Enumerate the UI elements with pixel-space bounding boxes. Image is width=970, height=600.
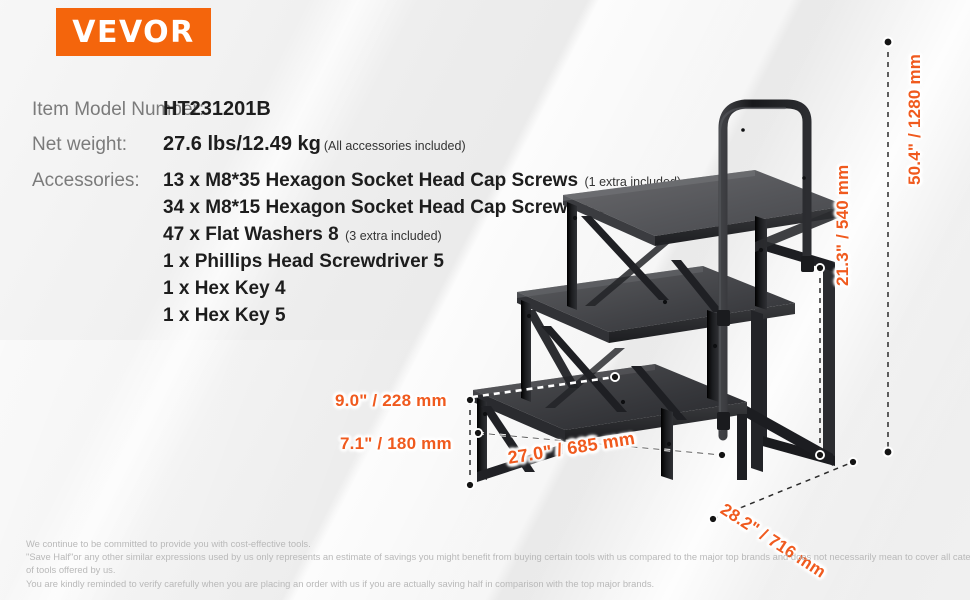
- footer-line: "Save Half"or any other similar expressi…: [26, 550, 944, 563]
- footer-line: You are kindly reminded to verify carefu…: [26, 577, 944, 590]
- weight-note: (All accessories included): [324, 139, 466, 153]
- weight-value: 27.6 lbs/12.49 kg(All accessories includ…: [163, 133, 466, 156]
- accessory-note: (3 extra included): [342, 229, 442, 243]
- footer-disclaimer: We continue to be committed to provide y…: [26, 537, 944, 590]
- model-label: Item Model Number:: [32, 99, 163, 121]
- model-value: HT231201B: [163, 98, 271, 121]
- product-illustration: [455, 10, 875, 520]
- footer-line: of tools offered by us.: [26, 563, 944, 576]
- brand-name: VEVOR: [72, 15, 195, 50]
- dimension-step-rise: 9.0" / 228 mm: [335, 391, 447, 411]
- vevor-logo: VEVOR: [56, 8, 211, 56]
- right-legs: [661, 216, 767, 480]
- product-spec-banner: VEVOR Item Model Number: HT231201B Net w…: [0, 0, 970, 600]
- accessory-text: 47 x Flat Washers 8: [163, 224, 339, 245]
- footer-line: We continue to be committed to provide y…: [26, 537, 944, 550]
- dimension-platform-height: 21.3" / 540 mm: [833, 165, 853, 286]
- accessory-text: 1 x Hex Key 5: [163, 305, 286, 326]
- dimension-step-tread: 7.1" / 180 mm: [340, 434, 452, 454]
- weight-label: Net weight:: [32, 134, 163, 156]
- accessory-text: 1 x Hex Key 4: [163, 278, 286, 299]
- accessories-label: Accessories:: [32, 170, 163, 192]
- dimension-overall-height: 50.4" / 1280 mm: [905, 54, 925, 185]
- accessory-text: 1 x Phillips Head Screwdriver 5: [163, 251, 444, 272]
